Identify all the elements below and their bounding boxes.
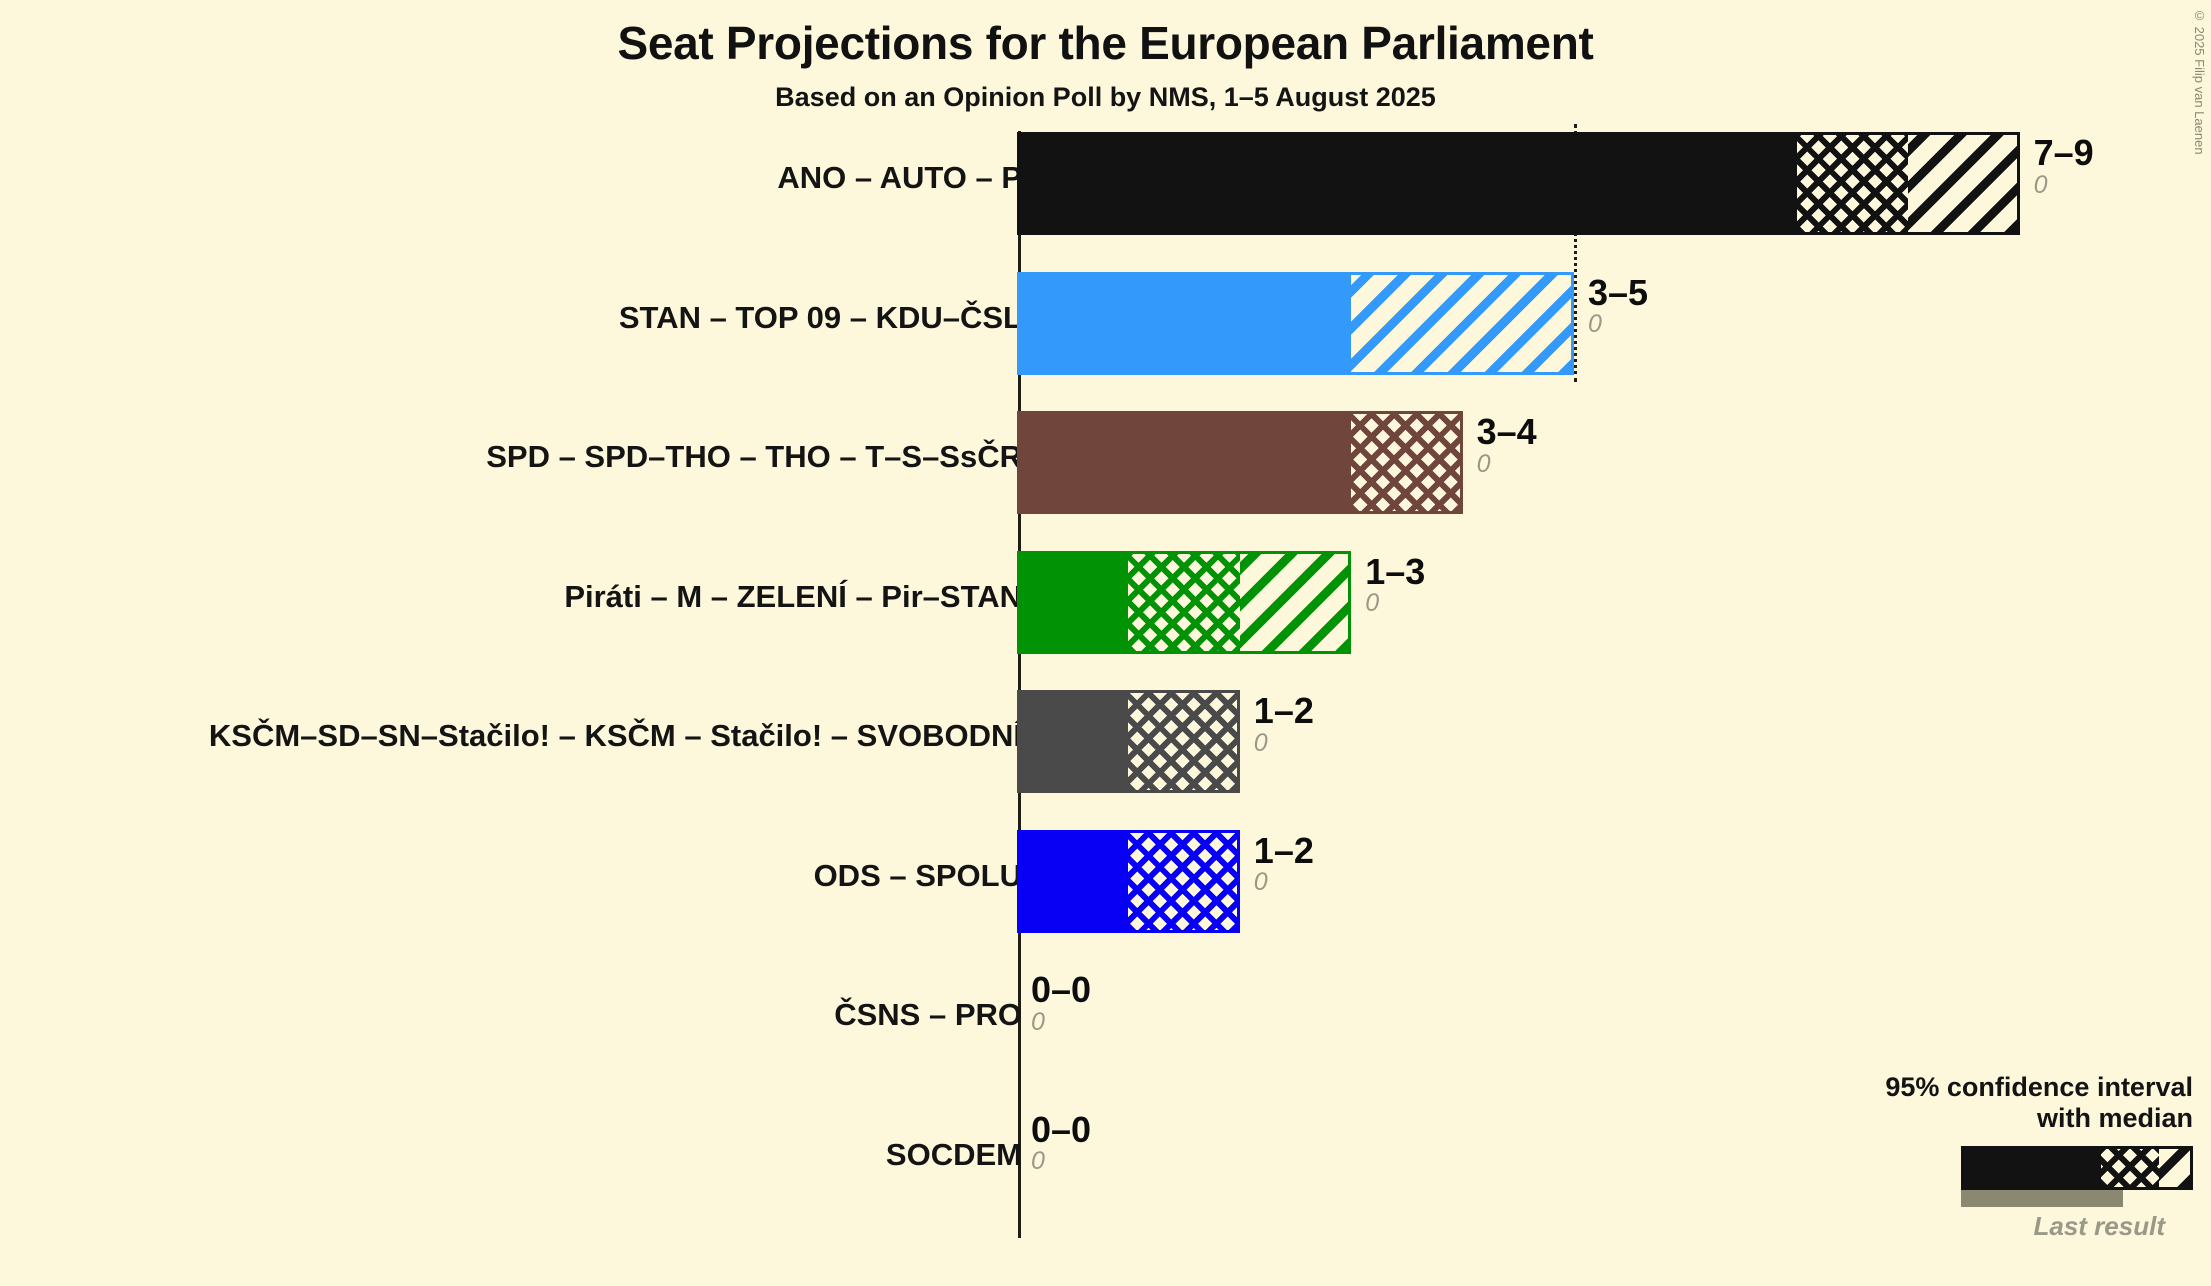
bar-segment-hatch bbox=[2159, 1146, 2193, 1190]
party-label: ČSNS – PRO bbox=[834, 999, 1022, 1030]
last-result-label: 0 bbox=[1588, 311, 1648, 337]
confidence-interval-bar bbox=[1017, 411, 1463, 514]
party-label: Piráti – M – ZELENÍ – Pir–STAN bbox=[564, 581, 1022, 612]
legend-swatch-confidence-interval bbox=[1961, 1146, 2193, 1190]
bar-segment-solid bbox=[1017, 411, 1351, 514]
last-result-label: 0 bbox=[1254, 869, 1314, 895]
bar-value-labels: 1–30 bbox=[1365, 553, 1425, 617]
confidence-interval-bar bbox=[1017, 690, 1240, 793]
bar-segment-hatch bbox=[1908, 132, 2019, 235]
plot-area: ANO – AUTO – P7–90STAN – TOP 09 – KDU–ČS… bbox=[0, 0, 2211, 1254]
bar-segment-solid bbox=[1017, 830, 1128, 933]
bar-segment-crosshatch bbox=[2101, 1146, 2159, 1190]
bar-value-labels: 3–50 bbox=[1588, 274, 1648, 338]
bar-segment-solid bbox=[1017, 690, 1128, 793]
last-result-label: 0 bbox=[1031, 1009, 1091, 1035]
bar-value-labels: 3–40 bbox=[1477, 413, 1537, 477]
party-label: STAN – TOP 09 – KDU–ČSL bbox=[619, 302, 1022, 333]
confidence-interval-bar bbox=[1017, 830, 1240, 933]
seat-range-label: 3–4 bbox=[1477, 413, 1537, 451]
bar-segment-crosshatch bbox=[1128, 551, 1239, 654]
legend-line-2: with median bbox=[1863, 1103, 2193, 1134]
party-label: SOCDEM bbox=[886, 1139, 1022, 1170]
seat-range-label: 0–0 bbox=[1031, 1111, 1091, 1149]
party-label: ODS – SPOLU bbox=[814, 860, 1022, 891]
last-result-label: 0 bbox=[1365, 590, 1425, 616]
bar-value-labels: 1–20 bbox=[1254, 692, 1314, 756]
bar-segment-solid bbox=[1961, 1146, 2101, 1190]
seat-range-label: 3–5 bbox=[1588, 274, 1648, 312]
seat-range-label: 1–2 bbox=[1254, 832, 1314, 870]
legend-line-1: 95% confidence interval bbox=[1863, 1072, 2193, 1103]
last-result-label: 0 bbox=[1477, 451, 1537, 477]
bar-segment-hatch bbox=[1240, 551, 1351, 654]
seat-range-label: 0–0 bbox=[1031, 971, 1091, 1009]
bar-segment-crosshatch bbox=[1351, 411, 1462, 514]
seat-range-label: 1–2 bbox=[1254, 692, 1314, 730]
bar-segment-solid bbox=[1017, 132, 1797, 235]
seat-range-label: 7–9 bbox=[2034, 134, 2094, 172]
legend-swatch-last-result bbox=[1961, 1190, 2123, 1207]
chart-root: Seat Projections for the European Parlia… bbox=[0, 0, 2211, 1254]
bar-segment-solid bbox=[1017, 551, 1128, 654]
legend: 95% confidence interval with median Last… bbox=[1863, 1072, 2193, 1242]
party-label: SPD – SPD–THO – THO – T–S–SsČR bbox=[486, 441, 1022, 472]
bar-value-labels: 0–00 bbox=[1031, 1111, 1091, 1175]
last-result-label: 0 bbox=[1254, 730, 1314, 756]
bar-segment-crosshatch bbox=[1128, 830, 1239, 933]
last-result-label: 0 bbox=[1031, 1148, 1091, 1174]
legend-last-result-label: Last result bbox=[1863, 1211, 2165, 1242]
party-label: ANO – AUTO – P bbox=[777, 162, 1022, 193]
confidence-interval-bar bbox=[1017, 551, 1351, 654]
seat-range-label: 1–3 bbox=[1365, 553, 1425, 591]
bar-segment-hatch bbox=[1351, 272, 1574, 375]
last-result-label: 0 bbox=[2034, 172, 2094, 198]
confidence-interval-bar bbox=[1017, 132, 2020, 235]
bar-segment-crosshatch bbox=[1797, 132, 1908, 235]
bar-value-labels: 0–00 bbox=[1031, 971, 1091, 1035]
bar-value-labels: 7–90 bbox=[2034, 134, 2094, 198]
bar-segment-crosshatch bbox=[1128, 690, 1239, 793]
bar-segment-solid bbox=[1017, 272, 1351, 375]
confidence-interval-bar bbox=[1017, 272, 1574, 375]
bar-value-labels: 1–20 bbox=[1254, 832, 1314, 896]
party-label: KSČM–SD–SN–Stačilo! – KSČM – Stačilo! – … bbox=[209, 720, 1022, 751]
